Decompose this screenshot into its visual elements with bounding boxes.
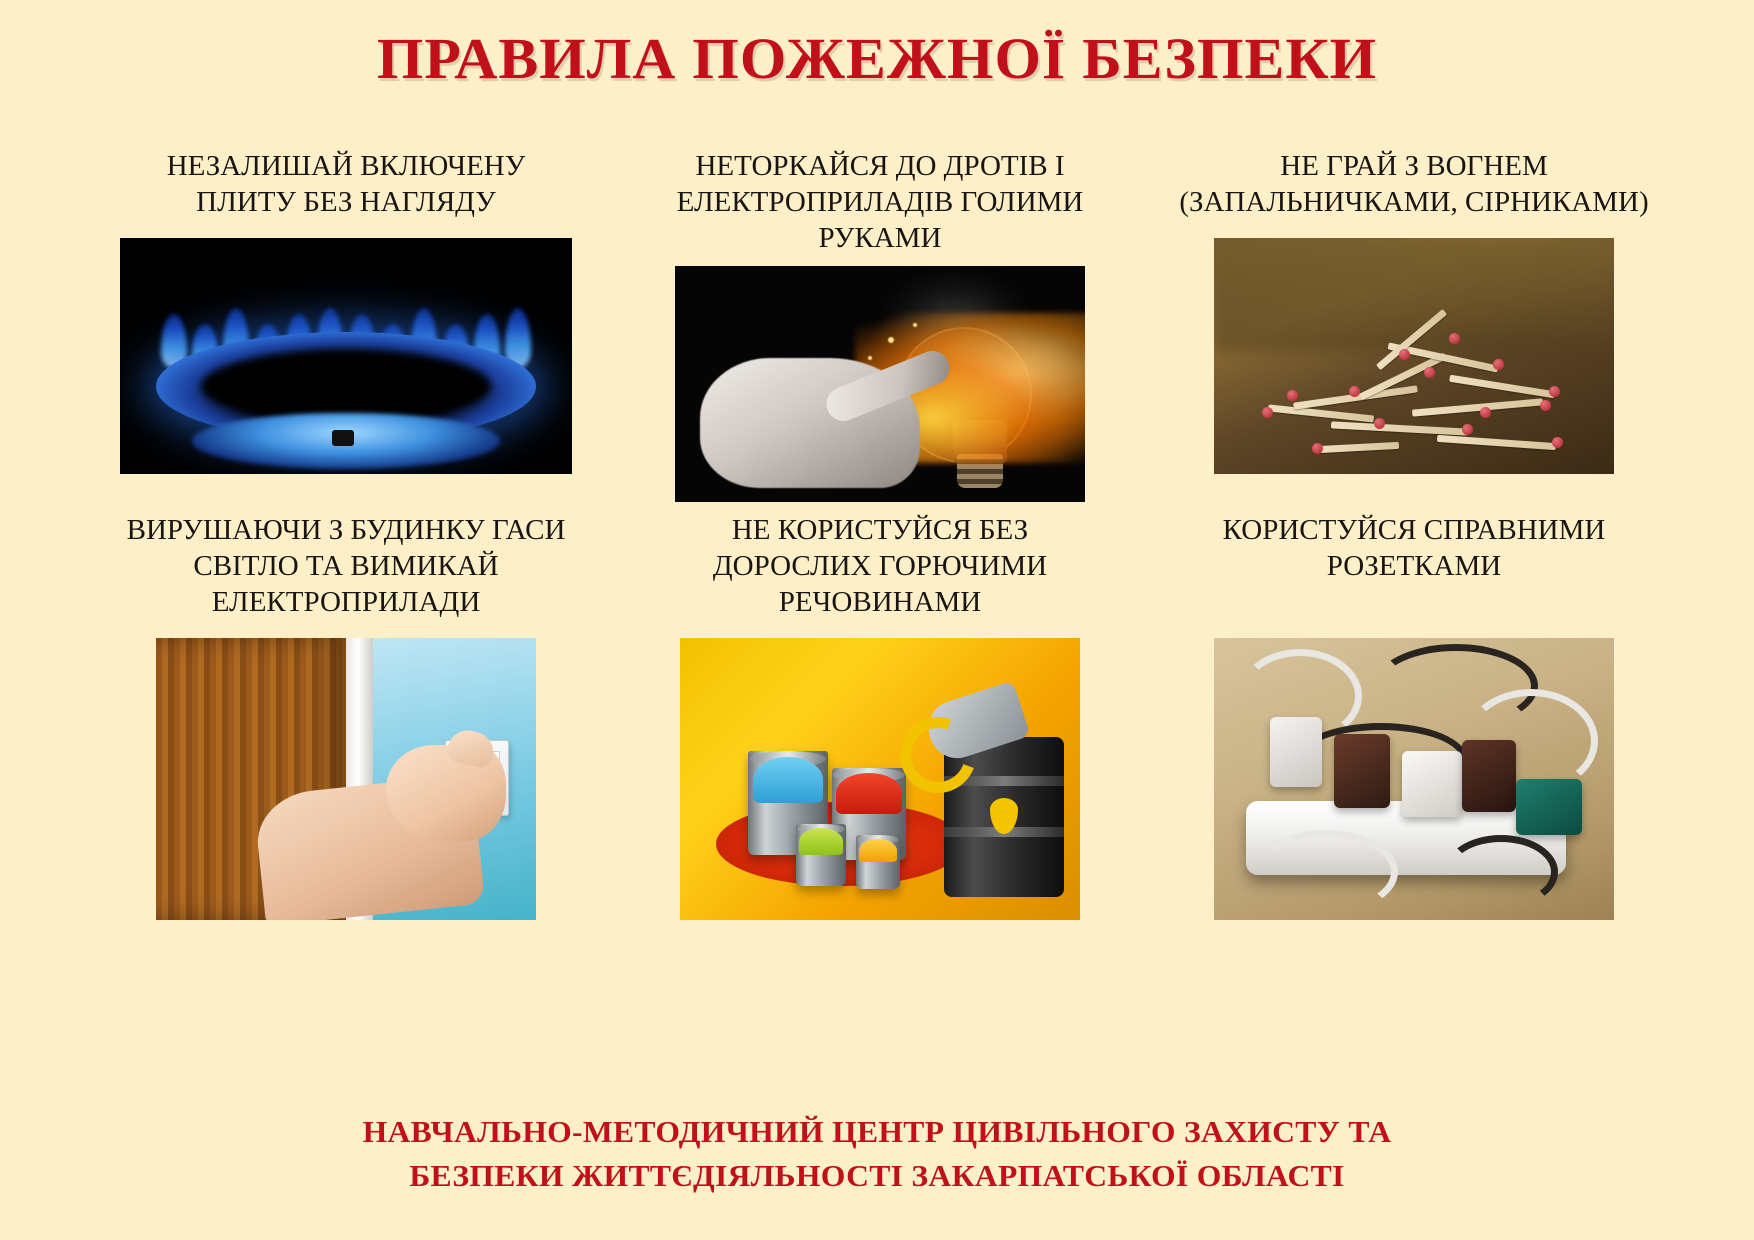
caption-line: РЕЧОВИНАМИ xyxy=(624,584,1136,620)
rule-caption: КОРИСТУЙСЯ СПРАВНИМИ РОЗЕТКАМИ xyxy=(1158,512,1670,628)
page-title: ПРАВИЛА ПОЖЕЖНОЇ БЕЗПЕКИ xyxy=(0,28,1754,90)
fire-safety-poster: ПРАВИЛА ПОЖЕЖНОЇ БЕЗПЕКИ НЕЗАЛИШАЙ ВКЛЮЧ… xyxy=(0,0,1754,1240)
plug-green xyxy=(1516,779,1582,835)
gas-stove-burner-photo xyxy=(120,238,572,474)
rule-card-electric-wires: НЕТОРКАЙСЯ ДО ДРОТІВ І ЕЛЕКТРОПРИЛАДІВ Г… xyxy=(624,148,1136,502)
paint-can-orange xyxy=(856,835,900,889)
rule-caption: НЕЗАЛИШАЙ ВКЛЮЧЕНУ ПЛИТУ БЕЗ НАГЛЯДУ xyxy=(90,148,602,228)
caption-line: (ЗАПАЛЬНИЧКАМИ, СІРНИКАМИ) xyxy=(1158,184,1670,220)
rule-card-good-sockets: КОРИСТУЙСЯ СПРАВНИМИ РОЗЕТКАМИ xyxy=(1158,512,1670,920)
plug-white xyxy=(1270,717,1322,787)
plug-brown xyxy=(1334,734,1390,808)
plug-white xyxy=(1402,751,1462,817)
caption-line: ПЛИТУ БЕЗ НАГЛЯДУ xyxy=(90,184,602,220)
caption-line: ВИРУШАЮЧИ З БУДИНКУ ГАСИ xyxy=(90,512,602,548)
paint-red xyxy=(836,773,901,813)
rule-card-flammable-substances: НЕ КОРИСТУЙСЯ БЕЗ ДОРОСЛИХ ГОРЮЧИМИ РЕЧО… xyxy=(624,512,1136,920)
footer-line: НАВЧАЛЬНО-МЕТОДИЧНИЙ ЦЕНТР ЦИВІЛЬНОГО ЗА… xyxy=(0,1110,1754,1154)
paint-cans-and-fuel-drum-illustration xyxy=(680,638,1080,920)
paint-can-green xyxy=(796,824,846,886)
paint-blue xyxy=(753,757,823,803)
caption-line: НЕ КОРИСТУЙСЯ БЕЗ xyxy=(624,512,1136,548)
rule-caption: НЕ КОРИСТУЙСЯ БЕЗ ДОРОСЛИХ ГОРЮЧИМИ РЕЧО… xyxy=(624,512,1136,628)
power-cable xyxy=(1444,835,1558,909)
paint-orange xyxy=(859,839,898,863)
overloaded-power-strip-photo xyxy=(1214,638,1614,920)
pile-of-matches-photo xyxy=(1214,238,1614,474)
burner-center xyxy=(201,351,490,422)
caption-line: НЕЗАЛИШАЙ ВКЛЮЧЕНУ xyxy=(90,148,602,184)
rule-card-gas-stove: НЕЗАЛИШАЙ ВКЛЮЧЕНУ ПЛИТУ БЕЗ НАГЛЯДУ xyxy=(90,148,602,502)
footer-organization: НАВЧАЛЬНО-МЕТОДИЧНИЙ ЦЕНТР ЦИВІЛЬНОГО ЗА… xyxy=(0,1110,1754,1198)
caption-line: РОЗЕТКАМИ xyxy=(1158,548,1670,584)
rule-caption: НЕ ГРАЙ З ВОГНЕМ (ЗАПАЛЬНИЧКАМИ, СІРНИКА… xyxy=(1158,148,1670,228)
caption-line: ЕЛЕКТРОПРИЛАДИ xyxy=(90,584,602,620)
caption-line: ДОРОСЛИХ ГОРЮЧИМИ xyxy=(624,548,1136,584)
rule-card-turn-off-lights: ВИРУШАЮЧИ З БУДИНКУ ГАСИ СВІТЛО ТА ВИМИК… xyxy=(90,512,602,920)
rule-card-matches: НЕ ГРАЙ З ВОГНЕМ (ЗАПАЛЬНИЧКАМИ, СІРНИКА… xyxy=(1158,148,1670,502)
match-pile xyxy=(1262,328,1574,460)
footer-line: БЕЗПЕКИ ЖИТТЄДІЯЛЬНОСТІ ЗАКАРПАТСЬКОЇ ОБ… xyxy=(0,1154,1754,1198)
caption-line: СВІТЛО ТА ВИМИКАЙ xyxy=(90,548,602,584)
paint-green xyxy=(799,828,843,855)
rule-caption: НЕТОРКАЙСЯ ДО ДРОТІВ І ЕЛЕКТРОПРИЛАДІВ Г… xyxy=(624,148,1136,256)
caption-line: НЕ ГРАЙ З ВОГНЕМ xyxy=(1158,148,1670,184)
caption-line: ЕЛЕКТРОПРИЛАДІВ ГОЛИМИ РУКАМИ xyxy=(624,184,1136,256)
hand-on-light-switch-photo xyxy=(156,638,536,920)
rules-grid: НЕЗАЛИШАЙ ВКЛЮЧЕНУ ПЛИТУ БЕЗ НАГЛЯДУ НЕТ… xyxy=(90,148,1670,920)
hand-touching-burning-bulb-photo xyxy=(675,266,1085,502)
caption-line: КОРИСТУЙСЯ СПРАВНИМИ xyxy=(1158,512,1670,548)
power-cable xyxy=(1254,830,1398,914)
rule-caption: ВИРУШАЮЧИ З БУДИНКУ ГАСИ СВІТЛО ТА ВИМИК… xyxy=(90,512,602,628)
plug-brown xyxy=(1462,740,1516,812)
burner-cap xyxy=(332,430,354,446)
caption-line: НЕТОРКАЙСЯ ДО ДРОТІВ І xyxy=(624,148,1136,184)
